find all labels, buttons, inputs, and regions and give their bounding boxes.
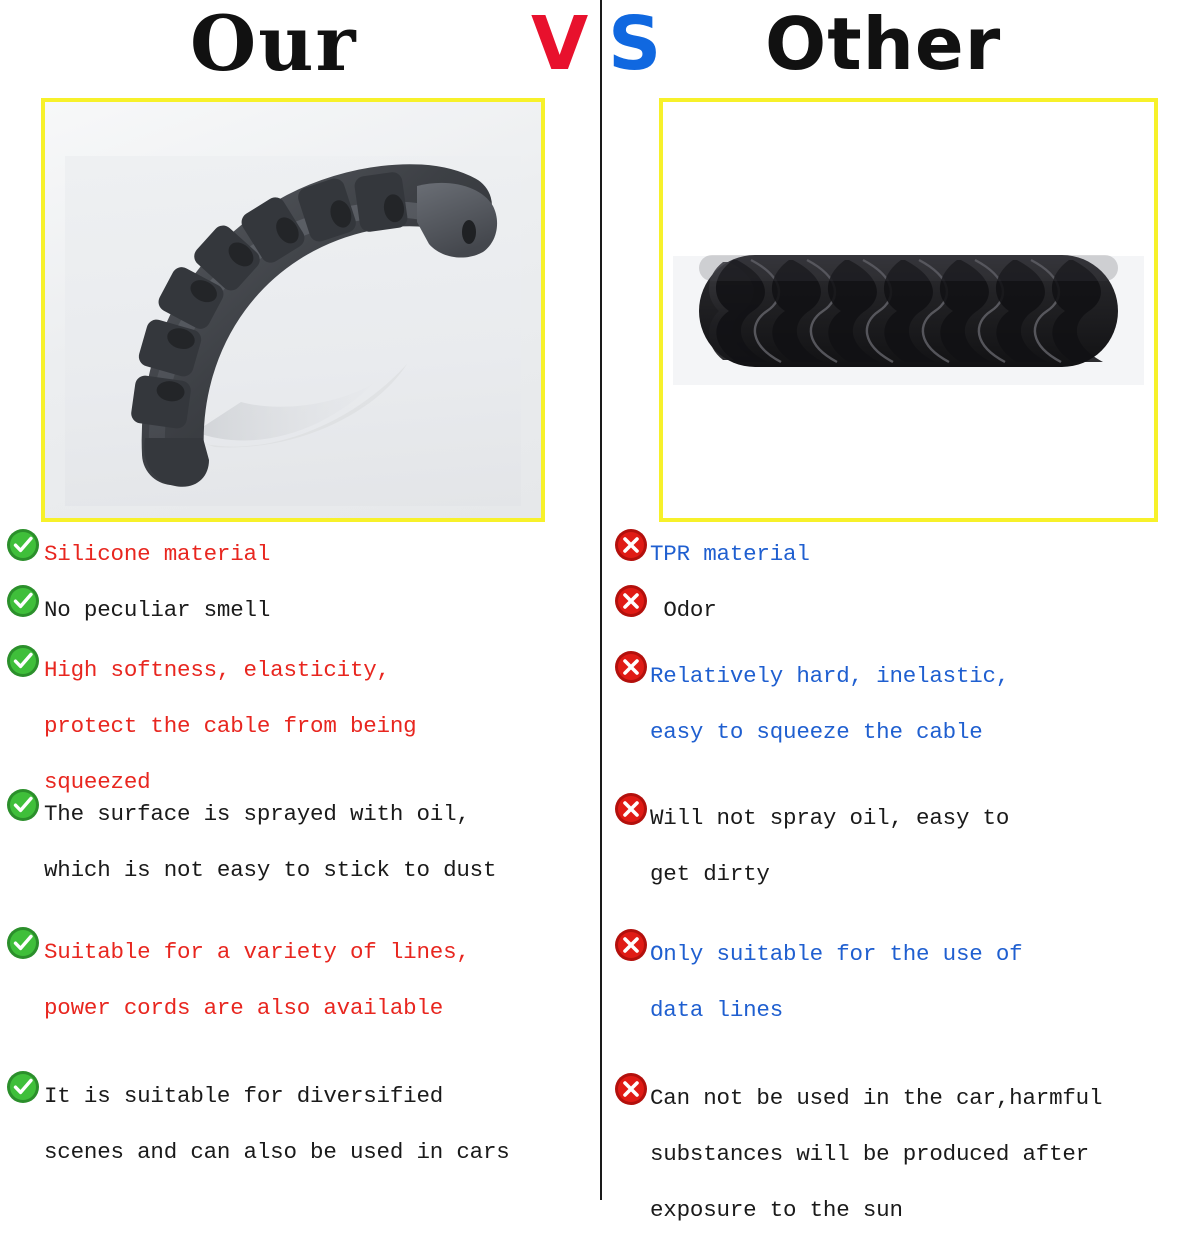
x-circle-icon [614,528,648,562]
page-header: Our V S Other [0,0,1196,92]
silicone-cable-organizer-illustration [45,102,541,518]
check-circle-icon [6,584,40,618]
feature-row: It is suitable for diversified scenes an… [0,1068,598,1180]
feature-row: No peculiar smell [0,582,598,638]
feature-row: TPR material [604,526,1196,582]
feature-text: Will not spray oil, easy to get dirty [650,790,1196,902]
feature-row: High softness, elasticity, protect the c… [0,642,598,810]
feature-text: High softness, elasticity, protect the c… [44,642,598,810]
feature-row: Can not be used in the car,harmful subst… [604,1070,1196,1238]
feature-row: Odor [604,582,1196,638]
check-circle-icon [6,528,40,562]
feature-row: Relatively hard, inelastic, easy to sque… [604,648,1196,760]
title-vs-s: S [608,0,661,90]
feature-text: TPR material [650,526,1196,582]
column-divider [600,0,602,1200]
check-circle-icon [6,644,40,678]
title-vs-v: V [531,0,588,90]
x-circle-icon [614,584,648,618]
feature-row: Silicone material [0,526,598,582]
title-other: Other [765,0,1001,90]
product-photo-other [659,98,1158,522]
feature-text: Only suitable for the use of data lines [650,926,1196,1038]
x-circle-icon [614,792,648,826]
feature-text: Relatively hard, inelastic, easy to sque… [650,648,1196,760]
x-circle-icon [614,650,648,684]
feature-text: Odor [650,582,1196,638]
feature-row: Only suitable for the use of data lines [604,926,1196,1038]
feature-text: Can not be used in the car,harmful subst… [650,1070,1196,1238]
feature-row: Suitable for a variety of lines, power c… [0,924,598,1036]
check-circle-icon [6,1070,40,1104]
feature-text: Suitable for a variety of lines, power c… [44,924,598,1036]
feature-row: Will not spray oil, easy to get dirty [604,790,1196,902]
feature-text: Silicone material [44,526,598,582]
tpr-cable-organizer-illustration [663,102,1154,518]
feature-text: No peculiar smell [44,582,598,638]
check-circle-icon [6,788,40,822]
feature-text: It is suitable for diversified scenes an… [44,1068,598,1180]
title-our: Our [190,0,358,90]
feature-row: The surface is sprayed with oil, which i… [0,786,598,898]
x-circle-icon [614,1072,648,1106]
comparison-page: Our V S Other [0,0,1196,1200]
x-circle-icon [614,928,648,962]
product-photo-our [41,98,545,522]
feature-text: The surface is sprayed with oil, which i… [44,786,598,898]
check-circle-icon [6,926,40,960]
